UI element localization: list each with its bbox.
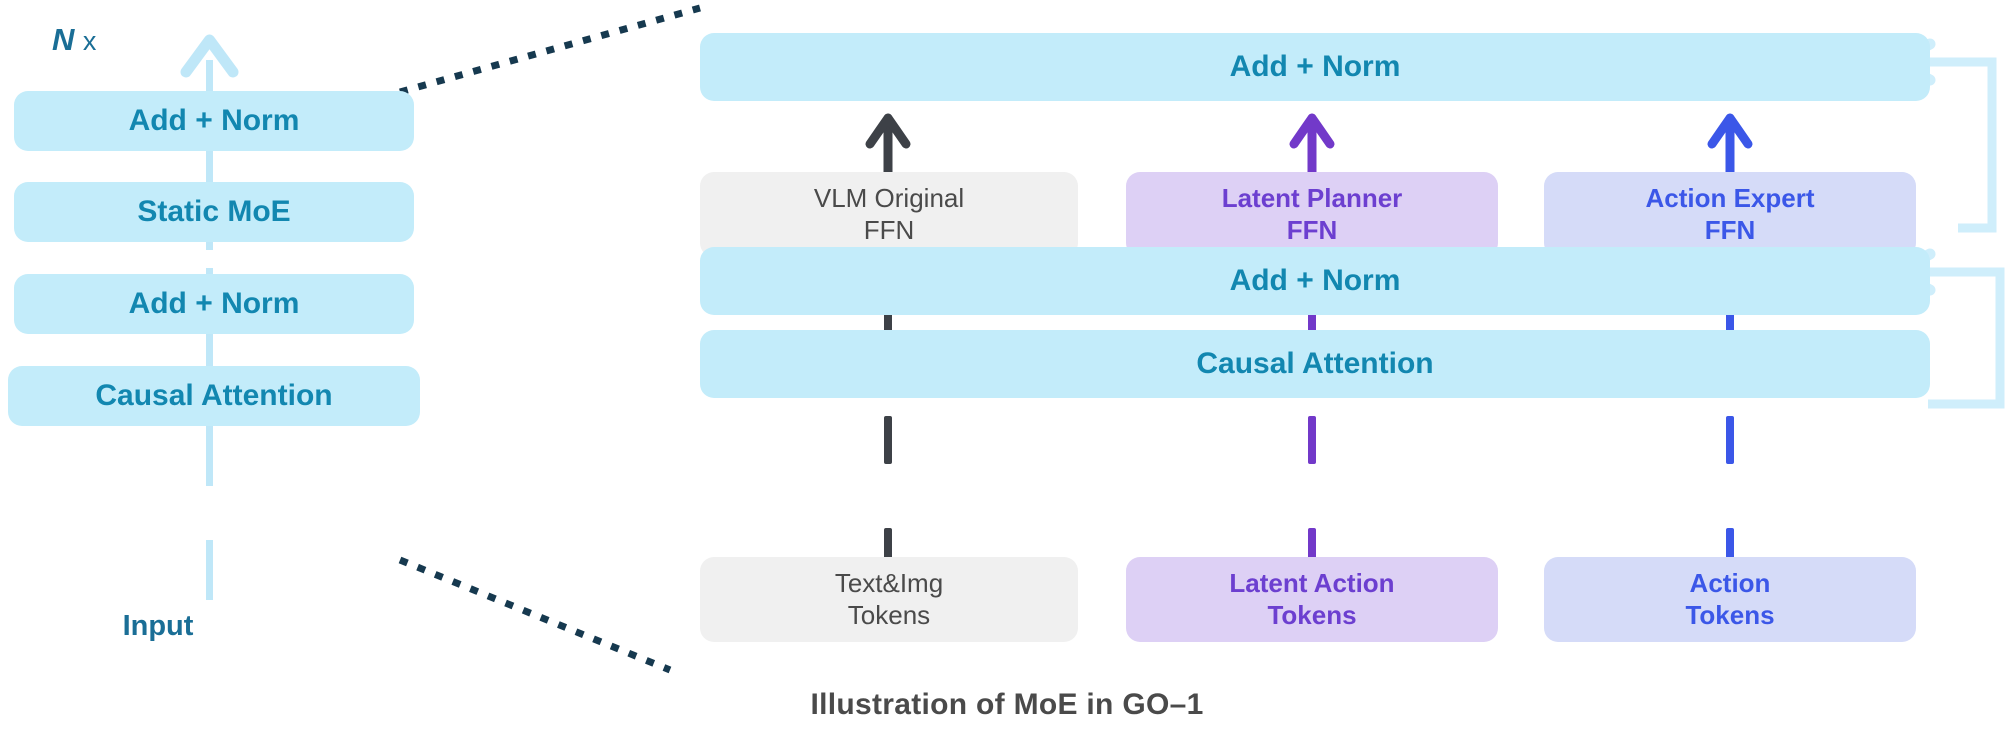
tokens-latent-action[interactable]: Latent ActionTokens xyxy=(1126,557,1498,642)
connector-addnorm-to-attention-action xyxy=(1726,416,1734,464)
tokens-label-line1: Text&Img xyxy=(835,568,943,598)
connector-addnorm-to-attention-latent xyxy=(1308,416,1316,464)
figure-caption: Illustration of MoE in GO–1 xyxy=(0,688,2014,722)
left-block-label: Causal Attention xyxy=(8,378,420,415)
expert-label-line1: VLM Original xyxy=(814,183,964,213)
left-block-add-norm-top[interactable]: Add + Norm xyxy=(14,91,414,151)
dotted-callout-line-top xyxy=(400,8,700,92)
arrow-up-icon-violet xyxy=(1294,118,1330,172)
expert-label-line2: FFN xyxy=(1287,215,1338,245)
dotted-callout-line-bottom xyxy=(400,560,670,670)
right-block-causal-attention[interactable]: Causal Attention xyxy=(700,330,1930,398)
expert-vlm-original-ffn[interactable]: VLM OriginalFFN xyxy=(700,172,1078,257)
left-block-add-norm-bottom[interactable]: Add + Norm xyxy=(14,274,414,334)
left-flow-line-5 xyxy=(206,540,213,600)
input-label: Input xyxy=(88,610,228,643)
arrow-up-icon-dark xyxy=(870,118,906,172)
tokens-label: ActionTokens xyxy=(1544,568,1916,631)
tokens-label-line2: Tokens xyxy=(1267,600,1356,630)
right-block-add-norm-top[interactable]: Add + Norm xyxy=(700,33,1930,101)
repeat-count-suffix: x xyxy=(75,26,97,56)
tokens-text-img[interactable]: Text&ImgTokens xyxy=(700,557,1078,642)
repeat-count-label: N x xyxy=(52,22,97,58)
tokens-action[interactable]: ActionTokens xyxy=(1544,557,1916,642)
left-block-label: Static MoE xyxy=(14,194,414,231)
right-block-label: Add + Norm xyxy=(700,49,1930,86)
tokens-label-line1: Latent Action xyxy=(1229,568,1394,598)
connector-addnorm-to-attention-vlm xyxy=(884,416,892,464)
repeat-count-value: N xyxy=(52,22,75,57)
expert-label-line1: Latent Planner xyxy=(1222,183,1403,213)
left-block-label: Add + Norm xyxy=(14,286,414,323)
right-block-label: Add + Norm xyxy=(700,263,1930,300)
figure-canvas: N x xyxy=(0,0,2014,748)
tokens-label-line1: Action xyxy=(1690,568,1771,598)
left-block-static-moe[interactable]: Static MoE xyxy=(14,182,414,242)
expert-label-line2: FFN xyxy=(864,215,915,245)
tokens-label-line2: Tokens xyxy=(1685,600,1774,630)
left-block-causal-attention[interactable]: Causal Attention xyxy=(8,366,420,426)
expert-label: Action ExpertFFN xyxy=(1544,183,1916,246)
left-block-label: Add + Norm xyxy=(14,103,414,140)
expert-label-line2: FFN xyxy=(1705,215,1756,245)
expert-label-line1: Action Expert xyxy=(1645,183,1814,213)
tokens-label-line2: Tokens xyxy=(848,600,930,630)
tokens-label: Latent ActionTokens xyxy=(1126,568,1498,631)
tokens-label: Text&ImgTokens xyxy=(700,568,1078,631)
expert-latent-planner-ffn[interactable]: Latent PlannerFFN xyxy=(1126,172,1498,257)
expert-action-expert-ffn[interactable]: Action ExpertFFN xyxy=(1544,172,1916,257)
arrow-up-icon-blue xyxy=(1712,118,1748,172)
right-block-add-norm-mid[interactable]: Add + Norm xyxy=(700,247,1930,315)
right-block-label: Causal Attention xyxy=(700,346,1930,383)
expert-label: Latent PlannerFFN xyxy=(1126,183,1498,246)
expert-label: VLM OriginalFFN xyxy=(700,183,1078,246)
